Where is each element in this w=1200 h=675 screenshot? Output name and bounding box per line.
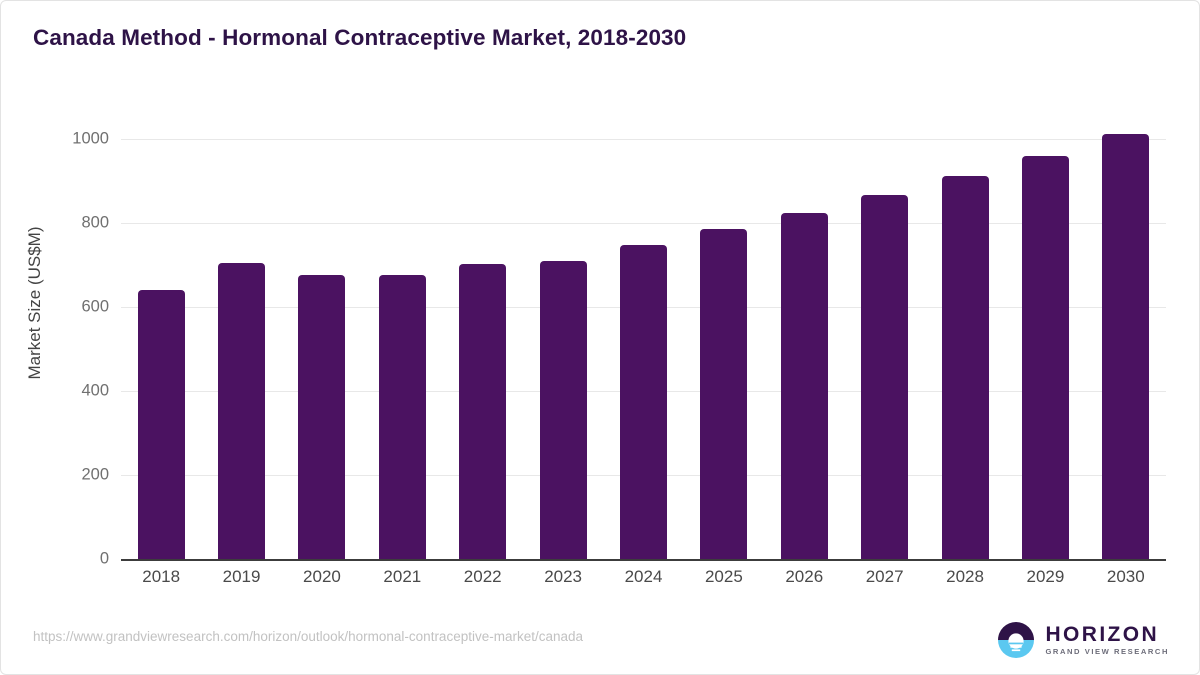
x-tick-label-2030: 2030	[1086, 567, 1166, 587]
bar-2019[interactable]	[218, 263, 265, 559]
gridline	[121, 223, 1166, 224]
chart-figure: Canada Method - Hormonal Contraceptive M…	[0, 0, 1200, 675]
y-tick-label: 1000	[39, 130, 109, 149]
x-tick-label-2018: 2018	[121, 567, 201, 587]
x-tick-label-2021: 2021	[362, 567, 442, 587]
y-tick-label: 0	[39, 550, 109, 569]
x-tick-label-2028: 2028	[925, 567, 1005, 587]
logo-text: HORIZON GRAND VIEW RESEARCH	[1045, 624, 1169, 656]
bar-2027[interactable]	[861, 195, 908, 559]
bar-2024[interactable]	[620, 245, 667, 559]
x-tick-label-2026: 2026	[764, 567, 844, 587]
bar-2025[interactable]	[700, 229, 747, 559]
logo-tagline: GRAND VIEW RESEARCH	[1045, 648, 1169, 656]
y-tick-label: 400	[39, 382, 109, 401]
x-tick-label-2029: 2029	[1005, 567, 1085, 587]
horizon-logo[interactable]: HORIZON GRAND VIEW RESEARCH	[996, 619, 1169, 661]
x-tick-label-2025: 2025	[684, 567, 764, 587]
bar-2022[interactable]	[459, 264, 506, 559]
bar-2030[interactable]	[1102, 134, 1149, 559]
x-tick-label-2023: 2023	[523, 567, 603, 587]
x-axis-tick-labels: 2018201920202021202220232024202520262027…	[121, 567, 1166, 595]
bar-2018[interactable]	[138, 290, 185, 559]
x-tick-label-2022: 2022	[443, 567, 523, 587]
x-tick-label-2019: 2019	[202, 567, 282, 587]
bar-2026[interactable]	[781, 213, 828, 559]
y-tick-label: 200	[39, 466, 109, 485]
page-title: Canada Method - Hormonal Contraceptive M…	[33, 25, 686, 51]
y-tick-label: 600	[39, 298, 109, 317]
y-tick-label: 800	[39, 214, 109, 233]
bar-2021[interactable]	[379, 275, 426, 559]
bar-2023[interactable]	[540, 261, 587, 559]
logo-wordmark: HORIZON	[1045, 624, 1169, 645]
x-tick-label-2020: 2020	[282, 567, 362, 587]
horizon-sun-circle-icon	[996, 620, 1036, 660]
gridline	[121, 139, 1166, 140]
x-tick-label-2027: 2027	[845, 567, 925, 587]
bar-2028[interactable]	[942, 176, 989, 559]
bar-2020[interactable]	[298, 275, 345, 559]
y-axis-tick-labels: 02004006008001000	[33, 114, 109, 559]
source-url-link[interactable]: https://www.grandviewresearch.com/horizo…	[33, 629, 583, 644]
x-axis-line	[121, 559, 1166, 561]
plot-area	[121, 114, 1166, 559]
bar-2029[interactable]	[1022, 156, 1069, 559]
x-tick-label-2024: 2024	[604, 567, 684, 587]
